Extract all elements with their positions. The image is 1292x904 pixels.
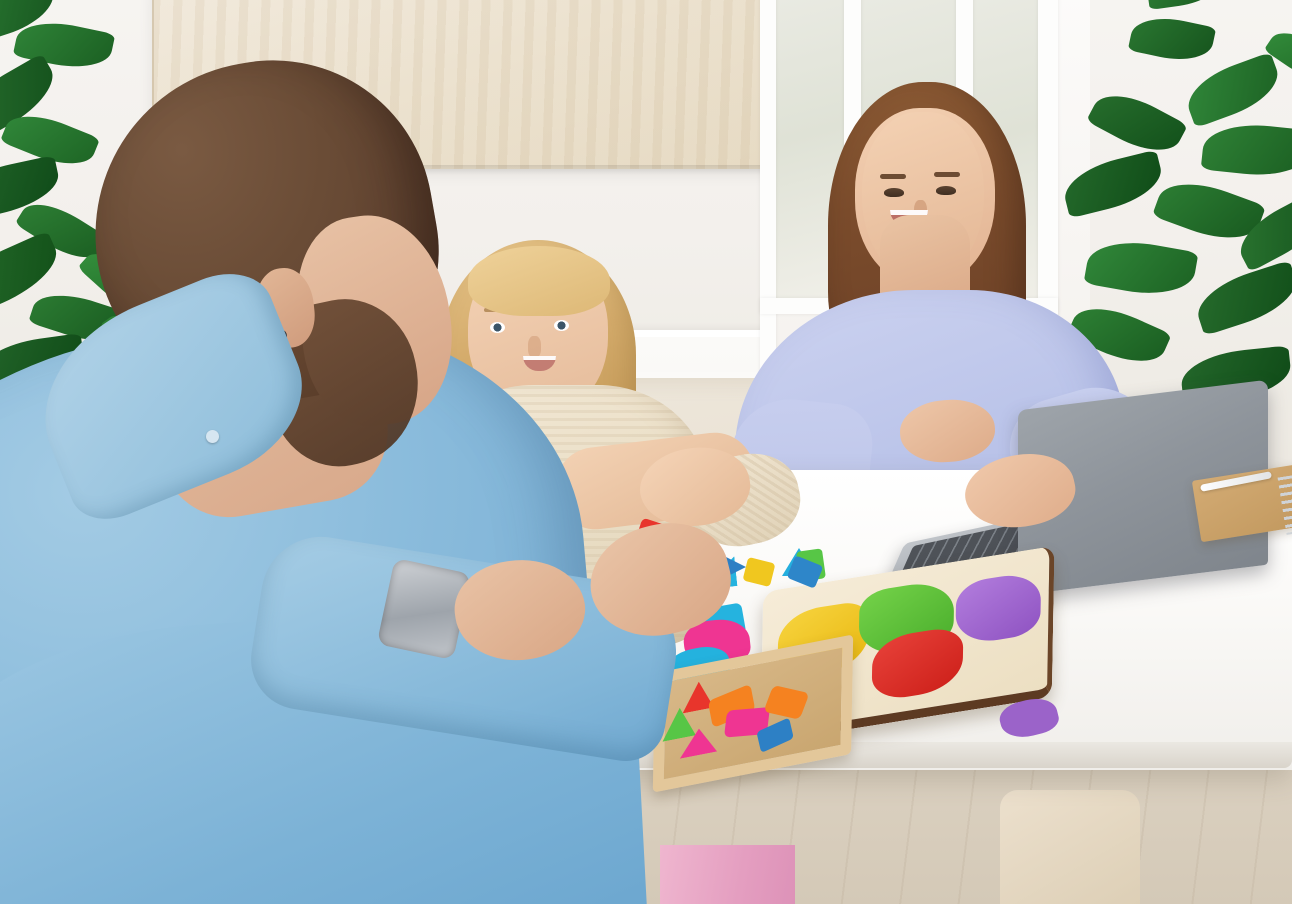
mother-legs — [1000, 790, 1140, 904]
screenshot-root: A Parent's Complete Guide for Non-Verbal… — [0, 0, 1292, 904]
girl-fringe — [468, 246, 610, 316]
girl-legs — [660, 845, 795, 904]
shirt-button-icon — [206, 430, 219, 443]
